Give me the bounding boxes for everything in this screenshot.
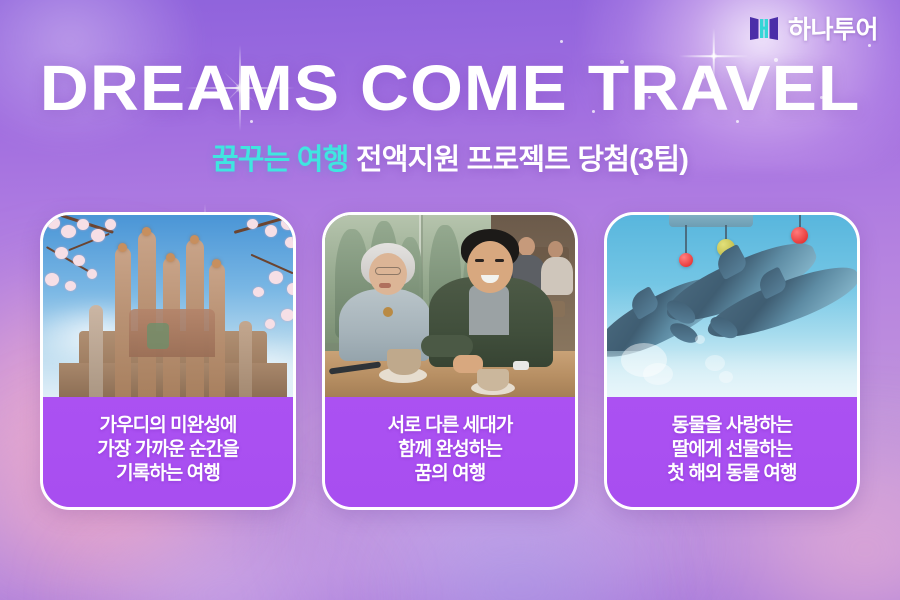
card-caption-text: 서로 다른 세대가 함께 완성하는 꿈의 여행 xyxy=(388,414,513,486)
winner-card[interactable]: 서로 다른 세대가 함께 완성하는 꿈의 여행 xyxy=(322,212,578,510)
hero-title: DREAMS COME TRAVEL xyxy=(0,56,900,120)
brand-name: 하나투어 xyxy=(788,10,878,46)
hero-subtitle-highlight: 꿈꾸는 여행 xyxy=(212,144,349,176)
sagrada-familia-photo xyxy=(43,215,293,397)
card-caption-text: 가우디의 미완성에 가장 가까운 순간을 기록하는 여행 xyxy=(97,414,238,486)
hero-subtitle-rest: 전액지원 프로젝트 당첨(3팀) xyxy=(356,144,688,176)
winner-card[interactable]: 동물을 사랑하는 딸에게 선물하는 첫 해외 동물 여행 xyxy=(604,212,860,510)
grandmother-and-man-cafe-photo xyxy=(325,215,575,397)
promotional-banner: 하나투어 DREAMS COME TRAVEL 꿈꾸는 여행 전액지원 프로젝트… xyxy=(0,0,900,600)
winner-card-list: 가우디의 미완성에 가장 가까운 순간을 기록하는 여행 xyxy=(40,212,860,510)
card-caption-text: 동물을 사랑하는 딸에게 선물하는 첫 해외 동물 여행 xyxy=(667,414,796,486)
hero-title-text: DREAMS COME TRAVEL xyxy=(40,56,861,120)
buoy-icon xyxy=(791,227,808,244)
jumping-dolphins-photo xyxy=(607,215,857,397)
card-caption: 동물을 사랑하는 딸에게 선물하는 첫 해외 동물 여행 xyxy=(607,397,857,507)
brand-logo[interactable]: 하나투어 xyxy=(749,10,878,46)
card-caption: 가우디의 미완성에 가장 가까운 순간을 기록하는 여행 xyxy=(43,397,293,507)
hero-subtitle: 꿈꾸는 여행 전액지원 프로젝트 당첨(3팀) xyxy=(0,136,900,178)
card-caption: 서로 다른 세대가 함께 완성하는 꿈의 여행 xyxy=(325,397,575,507)
hanatour-logo-icon xyxy=(749,13,779,43)
winner-card[interactable]: 가우디의 미완성에 가장 가까운 순간을 기록하는 여행 xyxy=(40,212,296,510)
buoy-icon xyxy=(679,253,693,267)
sparkle-dot xyxy=(560,40,563,43)
